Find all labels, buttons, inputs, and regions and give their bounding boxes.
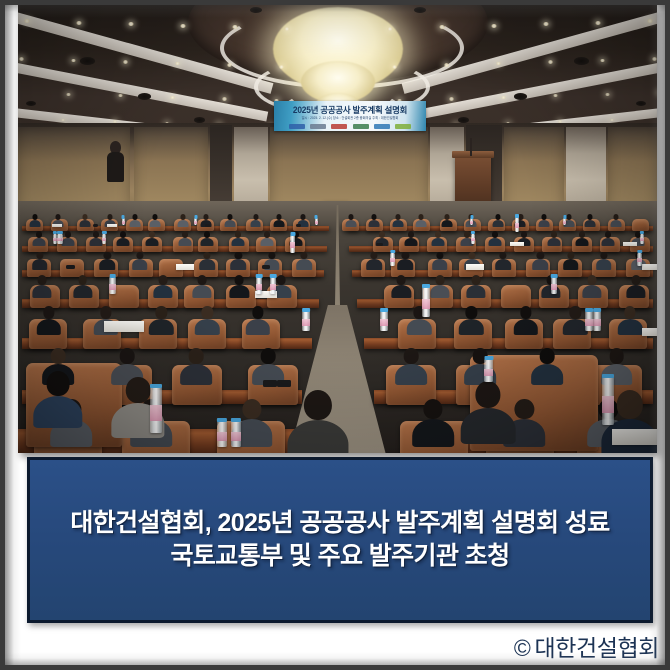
audience-member	[287, 390, 348, 454]
person-shoulders	[32, 238, 45, 247]
ceiling-downlight	[548, 60, 553, 64]
bottle-label	[256, 284, 263, 290]
bottle-cap	[122, 215, 125, 219]
conference-hall-photo: 2025년 공공공사 발주계획 설명회 일시 : 2025. 2. 12.(수)…	[18, 5, 657, 453]
audience-member	[618, 306, 642, 334]
water-bottle	[150, 387, 162, 433]
ceiling-vent	[514, 93, 527, 100]
ceiling-downlight	[71, 59, 76, 63]
person-shoulders	[232, 238, 245, 247]
smartphone	[376, 243, 383, 246]
water-bottle	[380, 311, 388, 331]
audience-member	[177, 214, 188, 227]
bottle-cap	[57, 231, 61, 235]
bottle-cap	[515, 214, 519, 218]
person-shoulders	[442, 220, 453, 227]
document-paper	[107, 224, 117, 227]
person-head	[197, 275, 206, 285]
water-bottle	[593, 311, 601, 331]
bottle-label	[217, 432, 227, 441]
person-head	[499, 252, 506, 260]
bottle-label	[593, 319, 601, 326]
person-shoulders	[539, 220, 550, 227]
water-bottle	[109, 277, 116, 294]
document-paper	[642, 328, 657, 337]
ceiling-downlight	[605, 93, 610, 96]
audience-member	[129, 214, 140, 227]
document-paper	[104, 321, 144, 332]
person-head	[301, 252, 308, 260]
caption-line-1: 대한건설협회, 2025년 공공공사 발주계획 설명회 성료	[70, 507, 609, 540]
bottle-cap	[637, 250, 642, 254]
bottle-cap	[551, 274, 558, 278]
bottle-label	[109, 284, 116, 290]
person-shoulders	[514, 319, 538, 335]
smartphone	[263, 380, 277, 387]
bottle-cap	[231, 418, 241, 422]
ceiling-downlight	[279, 65, 284, 69]
ceiling-downlight	[491, 24, 497, 28]
audience-member	[246, 306, 270, 334]
audience-member	[547, 231, 560, 246]
person-head	[397, 275, 406, 285]
person-shoulders	[150, 220, 161, 227]
sponsor-logo	[289, 124, 305, 129]
bottle-cap	[270, 274, 277, 278]
person-shoulders	[146, 238, 159, 247]
person-head	[51, 348, 66, 364]
person-shoulders	[260, 238, 273, 247]
ceiling-downlight	[170, 96, 175, 99]
person-shoulders	[178, 238, 191, 247]
person-shoulders	[407, 319, 431, 335]
person-shoulders	[582, 285, 601, 298]
ceiling-downlight	[222, 97, 227, 100]
ceiling-vent	[414, 7, 426, 13]
audience-member	[416, 214, 427, 227]
person-head	[261, 348, 276, 364]
bottle-cap	[470, 215, 473, 219]
person-shoulders	[495, 259, 511, 269]
audience-member	[442, 214, 453, 227]
stage-banner: 2025년 공공공사 발주계획 설명회 일시 : 2025. 2. 12.(수)…	[274, 101, 426, 131]
person-head	[402, 252, 409, 260]
audience-member	[585, 214, 596, 227]
person-head	[100, 306, 111, 318]
water-bottle	[231, 421, 241, 447]
person-shoulders	[392, 285, 411, 298]
person-shoulders	[531, 364, 563, 385]
bottle-cap	[290, 232, 295, 236]
water-bottle	[102, 234, 106, 244]
person-head	[189, 348, 204, 364]
person-shoulders	[132, 259, 148, 269]
bottle-label	[563, 221, 566, 223]
audience-member	[274, 214, 285, 227]
audience-member	[398, 252, 414, 270]
bottle-label	[194, 221, 197, 223]
audience-member	[146, 231, 159, 246]
caption-line-2: 국토교통부 및 주요 발주기관 초청	[171, 540, 510, 573]
person-shoulders	[431, 238, 444, 247]
sponsor-logo	[353, 124, 369, 129]
person-shoulders	[287, 420, 348, 453]
person-head	[520, 306, 531, 318]
audience-member	[199, 252, 215, 270]
person-shoulders	[274, 220, 285, 227]
bottle-cap	[471, 231, 475, 235]
person-head	[537, 252, 544, 260]
person-head	[235, 275, 244, 285]
audience-member	[432, 252, 448, 270]
person-head	[436, 275, 445, 285]
audience-member	[602, 231, 615, 246]
ceiling-vent	[574, 57, 589, 65]
person-head	[120, 348, 135, 364]
person-shoulders	[461, 408, 516, 444]
person-head	[37, 275, 46, 285]
audience-member	[224, 214, 235, 227]
ceiling-vent	[250, 7, 262, 13]
water-bottle	[256, 277, 263, 294]
copyright-notice: ©대한건설협회	[514, 629, 659, 663]
person-head	[609, 348, 624, 364]
audience-member	[563, 306, 587, 334]
audience-member	[493, 214, 504, 227]
ceiling-vent	[458, 117, 469, 123]
person-shoulders	[626, 285, 645, 298]
person-shoulders	[393, 220, 404, 227]
person-shoulders	[404, 238, 417, 247]
smartphone	[296, 224, 301, 227]
audience-member	[89, 231, 102, 246]
person-shoulders	[618, 319, 642, 335]
water-bottle	[390, 253, 395, 266]
person-shoulders	[563, 259, 579, 269]
sponsor-logo	[374, 124, 390, 129]
bottle-label	[515, 223, 519, 228]
copyright-icon: ©	[514, 635, 531, 661]
person-shoulders	[596, 259, 612, 269]
copyright-owner: 대한건설협회	[534, 635, 659, 661]
document-paper	[642, 264, 657, 270]
sponsor-logo	[395, 124, 411, 129]
bottle-label	[484, 369, 493, 377]
bottle-label	[390, 258, 395, 263]
person-shoulders	[366, 259, 382, 269]
person-shoulders	[547, 238, 560, 247]
microphone-icon	[470, 138, 472, 156]
ceiling-vent	[80, 57, 95, 65]
ceiling-downlight	[600, 59, 605, 63]
person-head	[624, 306, 635, 318]
person-shoulders	[432, 259, 448, 269]
bottle-cap	[217, 418, 227, 422]
stage-banner-logos	[286, 124, 414, 129]
audience-member	[32, 231, 45, 246]
audience-member	[149, 306, 173, 334]
ceiling-vent	[194, 117, 205, 123]
person-head	[304, 390, 332, 421]
audience-member	[392, 275, 411, 297]
person-shoulders	[585, 220, 596, 227]
audience-member	[539, 214, 550, 227]
audience-member	[431, 275, 450, 297]
audience-member	[200, 231, 213, 246]
audience-member	[73, 275, 92, 297]
person-shoulders	[79, 220, 90, 227]
sponsor-logo	[331, 124, 347, 129]
person-head	[617, 390, 643, 419]
person-head	[466, 306, 477, 318]
water-bottle	[57, 234, 61, 244]
smartphone	[277, 380, 291, 387]
person-shoulders	[32, 259, 48, 269]
audience-member	[132, 252, 148, 270]
person-shoulders	[398, 259, 414, 269]
person-head	[159, 275, 168, 285]
audience-member	[250, 214, 261, 227]
audience-member	[32, 252, 48, 270]
water-bottle	[217, 421, 227, 447]
audience-member	[461, 381, 516, 444]
person-head	[156, 306, 167, 318]
person-shoulders	[230, 285, 249, 298]
person-shoulders	[100, 259, 116, 269]
person-head	[235, 252, 242, 260]
smartphone	[66, 265, 75, 269]
audience-member	[610, 214, 621, 227]
bottle-label	[637, 258, 642, 263]
water-bottle	[602, 377, 614, 425]
bottle-label	[315, 221, 318, 223]
person-shoulders	[199, 259, 215, 269]
bottle-label	[422, 299, 430, 309]
person-head	[424, 399, 443, 420]
person-shoulders	[224, 220, 235, 227]
person-head	[202, 306, 213, 318]
audience-member	[413, 399, 455, 447]
chair	[501, 285, 531, 308]
person-shoulders	[431, 285, 450, 298]
document-paper	[466, 264, 484, 270]
person-head	[588, 275, 597, 285]
person-shoulders	[32, 285, 51, 298]
ceiling-downlight	[652, 57, 657, 61]
audience-member	[150, 214, 161, 227]
person-shoulders	[37, 319, 61, 335]
person-head	[600, 252, 607, 260]
person-shoulders	[231, 259, 247, 269]
bottle-cap	[256, 274, 263, 278]
person-shoulders	[533, 259, 549, 269]
audience-member	[30, 214, 41, 227]
document-paper	[612, 429, 657, 445]
audience-member	[260, 231, 273, 246]
water-bottle	[471, 234, 475, 244]
audience-member	[366, 252, 382, 270]
audience-member	[230, 275, 249, 297]
water-bottle	[422, 287, 430, 317]
person-head	[631, 275, 640, 285]
water-bottle	[640, 234, 644, 244]
person-shoulders	[30, 220, 41, 227]
water-bottle	[637, 253, 642, 266]
person-shoulders	[195, 319, 219, 335]
person-head	[570, 306, 581, 318]
bottle-label	[290, 242, 295, 248]
audience-member	[393, 214, 404, 227]
bottle-cap	[602, 374, 614, 378]
audience-member	[181, 348, 213, 385]
bottle-cap	[109, 274, 116, 278]
person-shoulders	[250, 220, 261, 227]
water-bottle	[551, 277, 558, 294]
person-shoulders	[117, 238, 130, 247]
person-shoulders	[33, 396, 82, 428]
audience-member	[37, 306, 61, 334]
bottle-cap	[593, 308, 601, 312]
bottle-cap	[102, 231, 106, 235]
bottle-label	[640, 238, 644, 241]
audience-member	[195, 306, 219, 334]
person-shoulders	[192, 285, 211, 298]
ceiling-downlight	[387, 27, 393, 31]
person-head	[136, 252, 143, 260]
person-shoulders	[395, 364, 427, 385]
water-bottle	[470, 218, 473, 225]
chair	[632, 219, 649, 231]
audience-member	[345, 214, 356, 227]
audience-member	[459, 306, 483, 334]
bottle-cap	[422, 284, 430, 288]
audience-member	[192, 275, 211, 297]
ceiling-downlight	[128, 22, 134, 26]
audience-member	[582, 275, 601, 297]
bottle-label	[231, 432, 241, 441]
audience-member	[596, 252, 612, 270]
person-shoulders	[416, 220, 427, 227]
audience-member	[404, 231, 417, 246]
person-head	[36, 252, 43, 260]
person-head	[78, 275, 87, 285]
audience-member	[576, 231, 589, 246]
person-shoulders	[73, 285, 92, 298]
ceiling-downlight	[543, 22, 549, 26]
bottle-label	[122, 221, 125, 223]
person-shoulders	[563, 319, 587, 335]
person-head	[252, 306, 263, 318]
bottle-cap	[380, 308, 388, 312]
person-shoulders	[177, 220, 188, 227]
sponsor-logo	[310, 124, 326, 129]
audience-member	[466, 275, 485, 297]
bottle-label	[150, 405, 162, 421]
bottle-label	[380, 319, 388, 326]
audience-member	[489, 231, 502, 246]
person-shoulders	[610, 220, 621, 227]
person-head	[43, 306, 54, 318]
person-head	[277, 275, 286, 285]
person-head	[567, 252, 574, 260]
person-head	[47, 371, 70, 396]
document-paper	[510, 242, 524, 246]
bottle-label	[102, 238, 106, 241]
person-head	[540, 348, 555, 364]
person-shoulders	[466, 285, 485, 298]
person-shoulders	[296, 259, 312, 269]
person-shoulders	[576, 238, 589, 247]
ceiling-downlight	[595, 21, 601, 25]
ceiling-downlight	[501, 96, 506, 99]
person-head	[126, 377, 151, 404]
water-bottle	[515, 217, 519, 232]
person-head	[436, 252, 443, 260]
document-paper	[52, 224, 62, 227]
person-shoulders	[493, 220, 504, 227]
bottle-cap	[640, 231, 644, 235]
bottle-cap	[390, 250, 395, 254]
person-shoulders	[200, 238, 213, 247]
audience-member	[296, 252, 312, 270]
person-head	[370, 252, 377, 260]
bottle-cap	[563, 215, 566, 219]
person-shoulders	[489, 238, 502, 247]
person-shoulders	[149, 319, 173, 335]
audience-member	[61, 231, 74, 246]
person-head	[204, 252, 211, 260]
ceiling-downlight	[76, 21, 82, 25]
audience-member	[495, 252, 511, 270]
stage-banner-subtitle: 일시 : 2025. 2. 12.(수) 장소 : 건설회관 2층 중회의실 주…	[274, 115, 426, 120]
ceiling-downlight	[24, 19, 30, 23]
ceiling-downlight	[227, 63, 232, 67]
ceiling-downlight	[444, 63, 449, 67]
caption-box: 대한건설협회, 2025년 공공공사 발주계획 설명회 성료 국토교통부 및 주…	[27, 457, 653, 623]
bottle-cap	[302, 308, 310, 312]
person-shoulders	[129, 220, 140, 227]
audience-member	[514, 306, 538, 334]
smartphone	[262, 265, 271, 269]
audience-member	[32, 275, 51, 297]
bottle-label	[302, 319, 310, 326]
audience-member	[33, 371, 82, 428]
water-bottle	[302, 311, 310, 331]
bottle-label	[471, 238, 475, 241]
audience-member	[100, 252, 116, 270]
person-shoulders	[413, 419, 455, 446]
bottle-label	[602, 396, 614, 412]
ceiling-vent	[636, 101, 646, 106]
person-shoulders	[153, 285, 172, 298]
audience-member	[153, 275, 172, 297]
ceiling-downlight	[19, 57, 24, 61]
audience-member	[178, 231, 191, 246]
bottle-cap	[315, 215, 318, 219]
bottle-label	[470, 221, 473, 223]
bottle-label	[551, 284, 558, 290]
audience-member	[395, 348, 427, 385]
image-card: 2025년 공공공사 발주계획 설명회 일시 : 2025. 2. 12.(수)…	[0, 0, 670, 670]
ceiling-vent	[138, 93, 151, 100]
ceiling-downlight	[449, 97, 454, 100]
person-shoulders	[345, 220, 356, 227]
water-bottle	[585, 311, 593, 331]
audience-member	[231, 252, 247, 270]
audience-member	[117, 231, 130, 246]
document-paper	[623, 242, 637, 246]
water-bottle	[484, 359, 493, 382]
